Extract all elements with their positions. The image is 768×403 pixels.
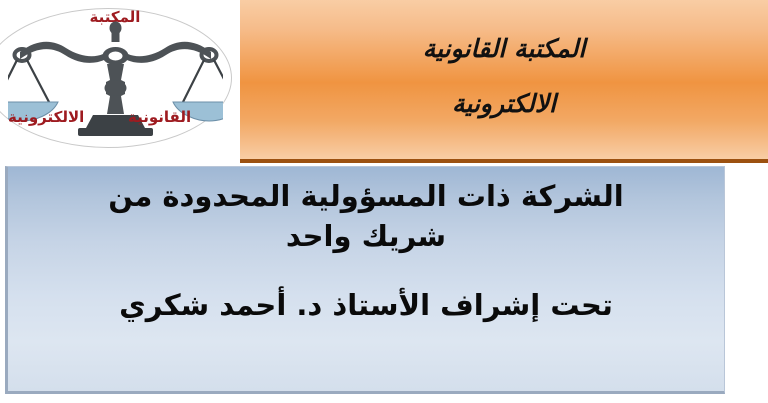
content-panel: الشركة ذات المسؤولية المحدودة من شريك وا… [5,166,725,394]
logo-word-qanuniya: القانونية [128,108,191,126]
header-title-line-2: الالكترونية [452,90,556,119]
logo-word-electronic: الالكترونية [8,108,84,126]
presentation-slide: المكتبة [0,0,768,403]
header-title-line-1: المكتبة القانونية [423,35,586,64]
logo-block: المكتبة [0,0,240,163]
supervisor-line: تحت إشراف الأستاذ د. أحمد شكري [8,286,724,324]
subject-title-line-2: شريك واحد [8,217,724,255]
header-band: المكتبة القانونية الالكترونية [240,0,768,163]
subject-title-line-1: الشركة ذات المسؤولية المحدودة من [8,177,724,215]
